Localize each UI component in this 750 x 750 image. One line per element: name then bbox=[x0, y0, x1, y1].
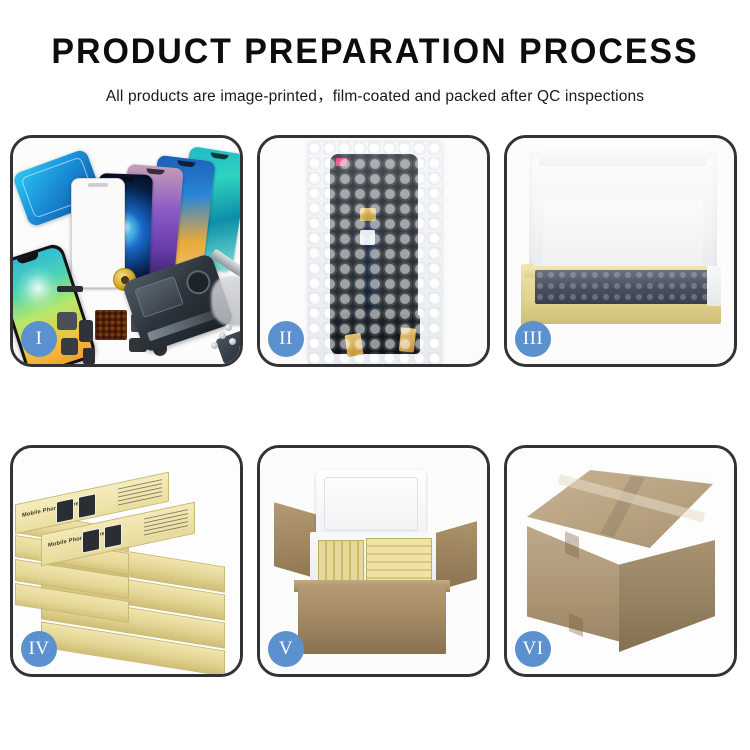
process-step-panel-4: Mobile Phone Spare Parts Mobile Phone Sp… bbox=[10, 445, 243, 677]
copper-grid-chip-icon bbox=[95, 310, 127, 340]
pink-qc-sticker bbox=[336, 158, 347, 166]
foam-side-strip bbox=[707, 266, 721, 306]
gold-contact-icon bbox=[399, 327, 416, 352]
driver-ic-icon bbox=[360, 230, 375, 245]
foam-box-lid bbox=[316, 470, 426, 538]
flex-cable-icon bbox=[57, 286, 83, 292]
process-step-panel-3: III bbox=[504, 135, 737, 367]
screw-icon bbox=[225, 324, 232, 331]
process-step-panel-5: V bbox=[257, 445, 490, 677]
hand-silhouette bbox=[211, 276, 240, 326]
lcd-flex-cable-icon bbox=[364, 214, 378, 314]
step-badge-2: II bbox=[268, 321, 304, 357]
step-badge-4: IV bbox=[21, 631, 57, 667]
phone-thumbnail-icon bbox=[78, 493, 96, 519]
step-badge-3: III bbox=[515, 321, 551, 357]
product-preparation-infographic: PRODUCT PREPARATION PROCESS All products… bbox=[0, 0, 750, 750]
camera-module-icon bbox=[57, 312, 77, 330]
screw-icon bbox=[219, 332, 226, 339]
yellow-boxes-group-right bbox=[366, 538, 432, 586]
gold-contact-icon bbox=[360, 208, 376, 221]
step-badge-1: I bbox=[21, 321, 57, 357]
foam-lid bbox=[529, 152, 717, 274]
bubble-wrapped-contents bbox=[535, 270, 711, 304]
process-step-panel-2: II bbox=[257, 135, 490, 367]
carton-front-panel bbox=[298, 586, 446, 654]
page-subtitle: All products are image-printed，film-coat… bbox=[0, 84, 750, 106]
vibration-motor-icon bbox=[61, 338, 78, 355]
screw-icon bbox=[229, 338, 236, 345]
phone-thumbnail-icon bbox=[56, 498, 74, 524]
header: PRODUCT PREPARATION PROCESS All products… bbox=[0, 0, 750, 106]
step-badge-6: VI bbox=[515, 631, 551, 667]
process-step-grid: I II bbox=[10, 135, 740, 677]
process-step-panel-1: I bbox=[10, 135, 243, 367]
battery-connector-icon bbox=[79, 320, 93, 342]
sim-tray-icon bbox=[83, 348, 95, 364]
process-step-panel-6: VI bbox=[504, 445, 737, 677]
label-spec-lines bbox=[144, 509, 188, 538]
screw-icon bbox=[211, 342, 218, 349]
step-badge-5: V bbox=[268, 631, 304, 667]
page-title: PRODUCT PREPARATION PROCESS bbox=[11, 34, 739, 71]
phone-thumbnail-icon bbox=[82, 528, 100, 554]
gold-contact-icon bbox=[345, 333, 364, 357]
phone-thumbnail-icon bbox=[104, 523, 122, 549]
label-spec-lines bbox=[118, 479, 162, 508]
